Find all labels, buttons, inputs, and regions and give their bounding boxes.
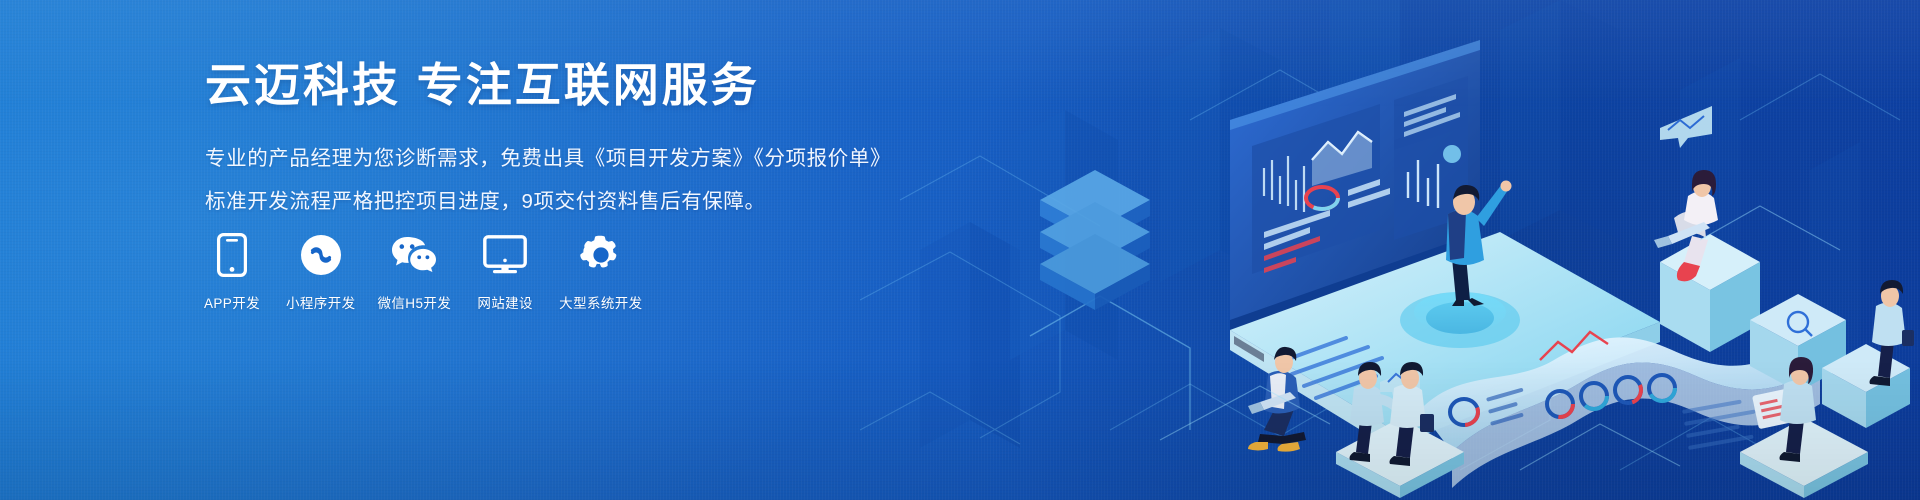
- monitor-icon: [473, 232, 537, 278]
- smartphone-icon: [200, 232, 264, 278]
- hero-subtitle: 专业的产品经理为您诊断需求，免费出具《项目开发方案》《分项报价单》 标准开发流程…: [205, 142, 965, 218]
- subtitle-line-1: 专业的产品经理为您诊断需求，免费出具《项目开发方案》《分项报价单》: [205, 142, 965, 175]
- gear-icon: [569, 232, 633, 278]
- service-item-website[interactable]: 网站建设: [473, 232, 537, 312]
- hero-copy: 云迈科技 专注互联网服务 专业的产品经理为您诊断需求，免费出具《项目开发方案》《…: [205, 60, 965, 228]
- service-item-app[interactable]: APP开发: [200, 232, 264, 312]
- subtitle-line-2: 标准开发流程严格把控项目进度，9项交付资料售后有保障。: [205, 185, 965, 218]
- wechat-icon: [382, 232, 446, 278]
- service-label: 微信H5开发: [378, 292, 452, 312]
- service-label: 小程序开发: [286, 292, 356, 312]
- service-label: 网站建设: [477, 292, 533, 312]
- hero-banner: 云迈科技 专注互联网服务 专业的产品经理为您诊断需求，免费出具《项目开发方案》《…: [0, 0, 1920, 500]
- service-item-mini-program[interactable]: 小程序开发: [286, 232, 356, 312]
- illustration-isometric-tech-scene: [860, 0, 1920, 500]
- service-label: APP开发: [204, 292, 260, 312]
- service-list: APP开发 小程序开发: [200, 232, 643, 312]
- service-label: 大型系统开发: [559, 292, 642, 312]
- service-item-large-system[interactable]: 大型系统开发: [559, 232, 642, 312]
- page-title: 云迈科技 专注互联网服务: [205, 60, 965, 112]
- service-item-wechat-h5[interactable]: 微信H5开发: [378, 232, 452, 312]
- platform-tile: [1740, 418, 1868, 498]
- mini-program-icon: [289, 232, 353, 278]
- server-stack: [1040, 170, 1150, 310]
